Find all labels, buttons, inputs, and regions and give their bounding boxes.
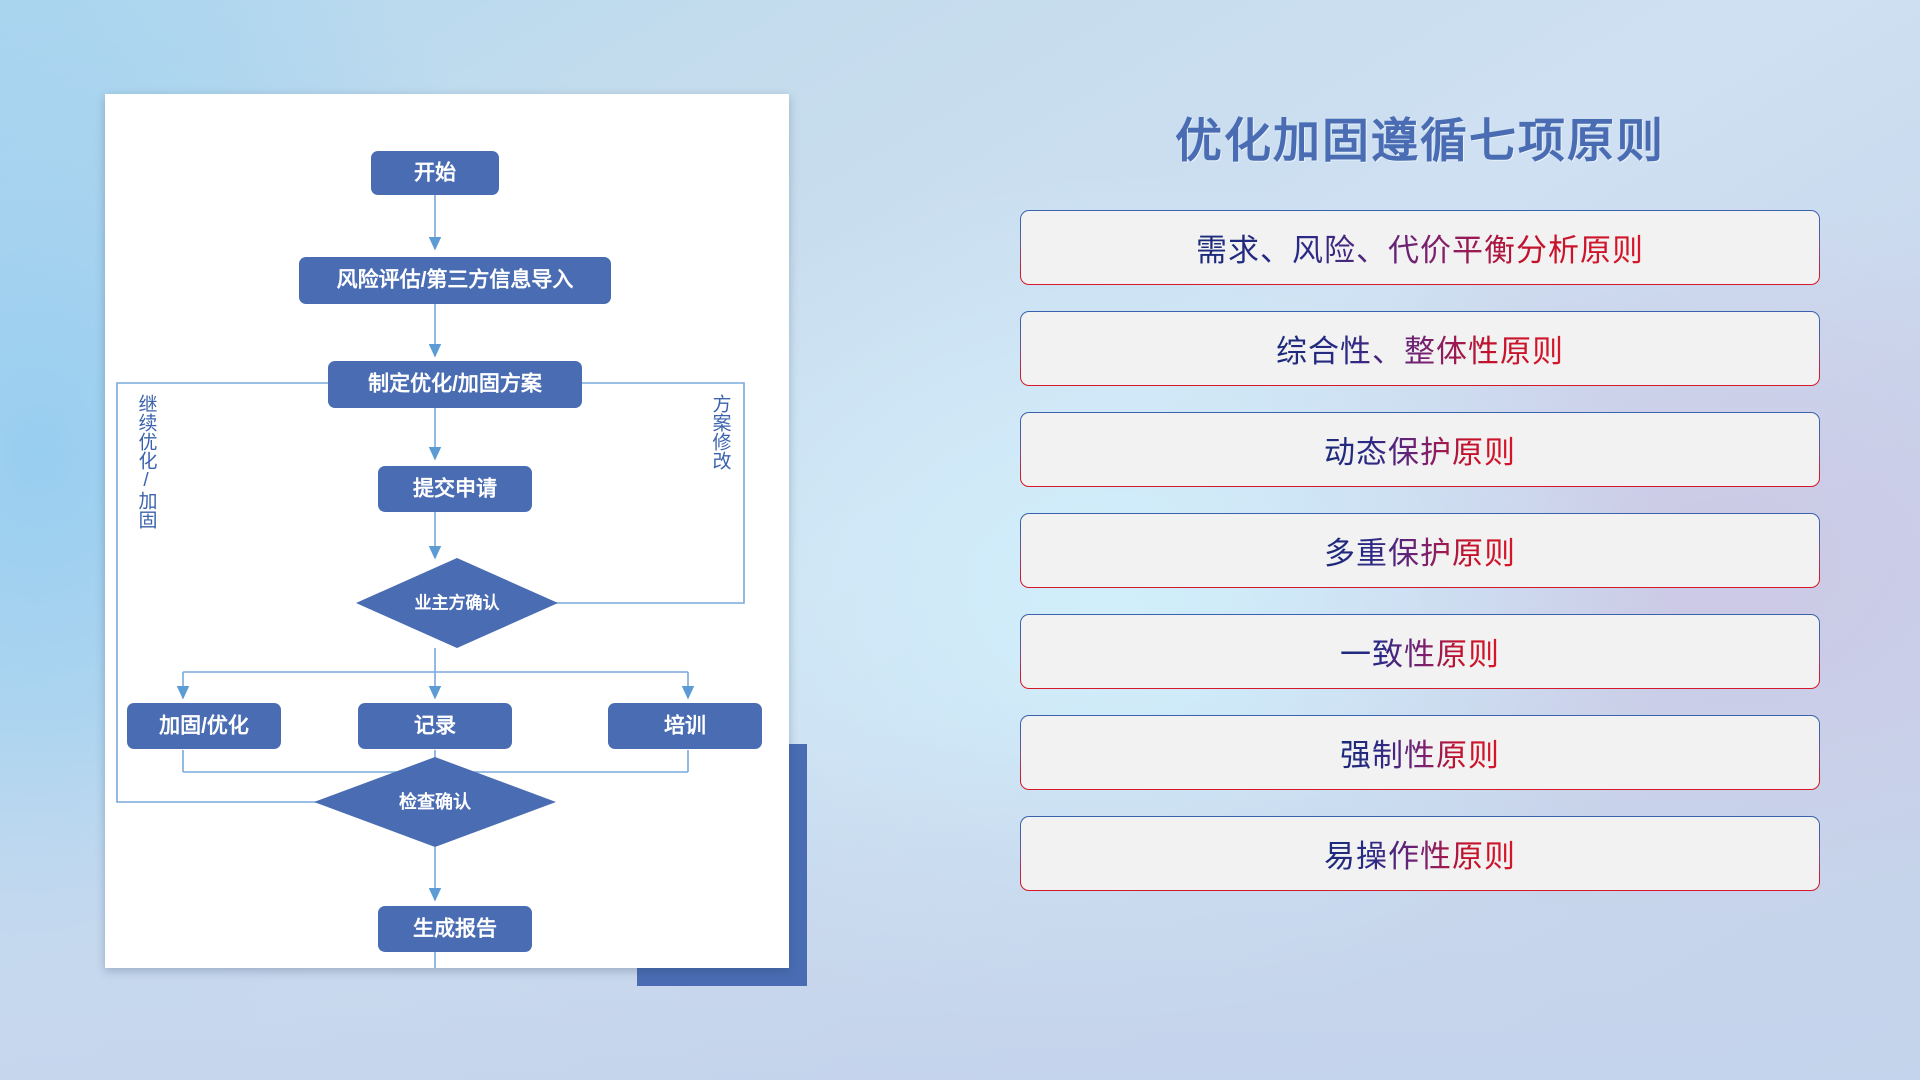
flow-node-train: 培训 xyxy=(608,703,762,749)
flow-node-owner-label: 业主方确认 xyxy=(415,592,501,612)
principle-item[interactable]: 综合性、整体性原则 xyxy=(1020,311,1820,386)
flowchart-card: 开始 风险评估/第三方信息导入 制定优化/加固方案 提交申请 业主方确认 加固/… xyxy=(105,94,789,968)
principle-label: 易操作性原则 xyxy=(1324,831,1516,876)
flow-node-report: 生成报告 xyxy=(378,906,532,952)
flow-node-train-label: 培训 xyxy=(664,714,706,738)
principle-label: 一致性原则 xyxy=(1340,629,1500,674)
principle-item-inner: 强制性原则 xyxy=(1021,716,1819,789)
flow-node-report-label: 生成报告 xyxy=(413,917,497,941)
principle-item-inner: 动态保护原则 xyxy=(1021,413,1819,486)
principle-label: 多重保护原则 xyxy=(1324,528,1516,573)
flow-node-submit: 提交申请 xyxy=(378,466,532,512)
flow-node-start-label: 开始 xyxy=(414,161,456,185)
flow-node-plan-label: 制定优化/加固方案 xyxy=(368,372,543,396)
principle-label: 动态保护原则 xyxy=(1324,427,1516,472)
flow-node-owner: 业主方确认 xyxy=(356,558,558,648)
principle-label: 综合性、整体性原则 xyxy=(1276,326,1564,371)
flow-node-reinforce: 加固/优化 xyxy=(127,703,281,749)
flow-node-start: 开始 xyxy=(371,151,499,195)
principle-label: 强制性原则 xyxy=(1340,730,1500,775)
flow-node-check: 检查确认 xyxy=(314,757,556,847)
flow-node-submit-label: 提交申请 xyxy=(413,477,497,501)
flow-node-plan: 制定优化/加固方案 xyxy=(328,361,582,408)
principle-item-inner: 综合性、整体性原则 xyxy=(1021,312,1819,385)
principle-item[interactable]: 易操作性原则 xyxy=(1020,816,1820,891)
flow-node-risk: 风险评估/第三方信息导入 xyxy=(299,257,611,304)
principle-item[interactable]: 动态保护原则 xyxy=(1020,412,1820,487)
flow-node-risk-label: 风险评估/第三方信息导入 xyxy=(337,268,574,292)
principle-item-inner: 多重保护原则 xyxy=(1021,514,1819,587)
principle-item[interactable]: 多重保护原则 xyxy=(1020,513,1820,588)
edge-label-right-loop: 方案修改 xyxy=(710,394,732,470)
principle-item-inner: 一致性原则 xyxy=(1021,615,1819,688)
principle-label: 需求、风险、代价平衡分析原则 xyxy=(1196,225,1644,270)
flow-node-check-label: 检查确认 xyxy=(399,791,472,812)
flowchart-diagram: 开始 风险评估/第三方信息导入 制定优化/加固方案 提交申请 业主方确认 加固/… xyxy=(105,94,789,968)
principle-item[interactable]: 强制性原则 xyxy=(1020,715,1820,790)
principle-item-inner: 易操作性原则 xyxy=(1021,817,1819,890)
principle-item[interactable]: 需求、风险、代价平衡分析原则 xyxy=(1020,210,1820,285)
flow-node-reinforce-label: 加固/优化 xyxy=(158,714,249,738)
flow-node-record-label: 记录 xyxy=(414,715,456,738)
principles-panel: 优化加固遵循七项原则 需求、风险、代价平衡分析原则 综合性、整体性原则 动态保护… xyxy=(1020,96,1820,1016)
principle-item-inner: 需求、风险、代价平衡分析原则 xyxy=(1021,211,1819,284)
flow-node-record: 记录 xyxy=(358,703,512,749)
principles-list: 需求、风险、代价平衡分析原则 综合性、整体性原则 动态保护原则 多重保护原则 一… xyxy=(1020,210,1820,891)
edge-label-left-loop: 继续优化/加固 xyxy=(136,394,158,529)
principles-title: 优化加固遵循七项原则 xyxy=(1020,96,1820,186)
principle-item[interactable]: 一致性原则 xyxy=(1020,614,1820,689)
